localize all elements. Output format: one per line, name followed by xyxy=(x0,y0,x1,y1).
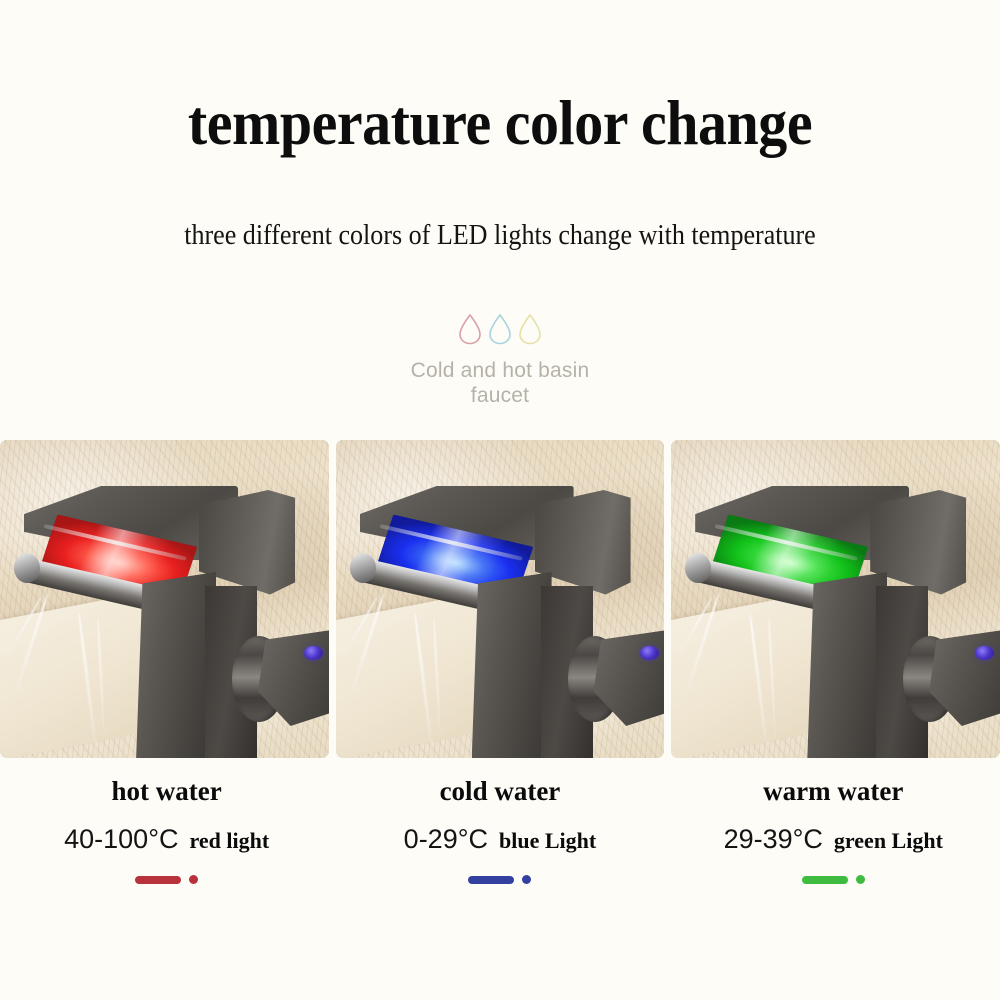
faucet-photo-red-led[interactable] xyxy=(0,440,329,758)
droplet-icon-blue xyxy=(487,312,513,346)
faucet-body-column xyxy=(807,572,887,758)
water-stream xyxy=(413,612,433,751)
faucet-photo-green-led[interactable] xyxy=(671,440,1000,758)
water-stream xyxy=(77,612,97,751)
spout-chrome-cap xyxy=(350,553,376,583)
water-stream xyxy=(345,592,385,707)
watermark-line-2: faucet xyxy=(0,383,1000,408)
caption-color-marker xyxy=(0,875,333,884)
water-stream xyxy=(432,618,440,738)
caption-temperature: 29-39°C xyxy=(724,826,823,853)
caption-light-label: red light xyxy=(190,830,270,852)
water-stream xyxy=(768,618,776,738)
marker-bar xyxy=(135,876,181,884)
water-stream xyxy=(749,612,769,751)
spout-chrome-cap xyxy=(14,553,40,583)
caption-color-marker xyxy=(667,875,1000,884)
caption-temperature: 40-100°C xyxy=(64,826,178,853)
faucet-photo-blue-led[interactable] xyxy=(336,440,665,758)
caption-detail-row: 0-29°C blue Light xyxy=(333,826,666,853)
caption-hot-water: hot water 40-100°C red light xyxy=(0,778,333,884)
product-photo-row xyxy=(0,440,1000,758)
caption-light-label: blue Light xyxy=(499,830,596,852)
watermark-text: Cold and hot basin faucet xyxy=(0,358,1000,408)
waterfall-faucet xyxy=(0,440,329,758)
caption-color-marker xyxy=(333,875,666,884)
caption-title: hot water xyxy=(0,778,333,805)
marker-dot xyxy=(522,875,531,884)
page-title: temperature color change xyxy=(40,92,960,155)
droplet-icon-group xyxy=(0,312,1000,352)
watermark-block: Cold and hot basin faucet xyxy=(0,312,1000,408)
droplet-icon-yellow xyxy=(517,312,543,346)
temperature-indicator-dot xyxy=(640,646,659,660)
water-stream xyxy=(681,592,721,707)
page-subtitle: three different colors of LED lights cha… xyxy=(35,222,965,250)
marker-bar xyxy=(802,876,848,884)
caption-title: warm water xyxy=(667,778,1000,805)
faucet-body-column xyxy=(472,572,552,758)
marker-dot xyxy=(189,875,198,884)
water-stream xyxy=(97,618,105,738)
caption-temperature: 0-29°C xyxy=(404,826,488,853)
marker-bar xyxy=(468,876,514,884)
temperature-indicator-dot xyxy=(304,646,323,660)
watermark-line-1: Cold and hot basin xyxy=(0,358,1000,383)
caption-detail-row: 40-100°C red light xyxy=(0,826,333,853)
waterfall-faucet xyxy=(336,440,665,758)
waterfall-faucet xyxy=(671,440,1000,758)
marker-dot xyxy=(856,875,865,884)
droplet-icon-red xyxy=(457,312,483,346)
water-stream xyxy=(10,592,50,707)
caption-detail-row: 29-39°C green Light xyxy=(667,826,1000,853)
faucet-body-column xyxy=(136,572,216,758)
caption-row: hot water 40-100°C red light cold water … xyxy=(0,778,1000,884)
caption-title: cold water xyxy=(333,778,666,805)
caption-cold-water: cold water 0-29°C blue Light xyxy=(333,778,666,884)
spout-chrome-cap xyxy=(685,553,711,583)
caption-light-label: green Light xyxy=(834,830,943,852)
caption-warm-water: warm water 29-39°C green Light xyxy=(667,778,1000,884)
